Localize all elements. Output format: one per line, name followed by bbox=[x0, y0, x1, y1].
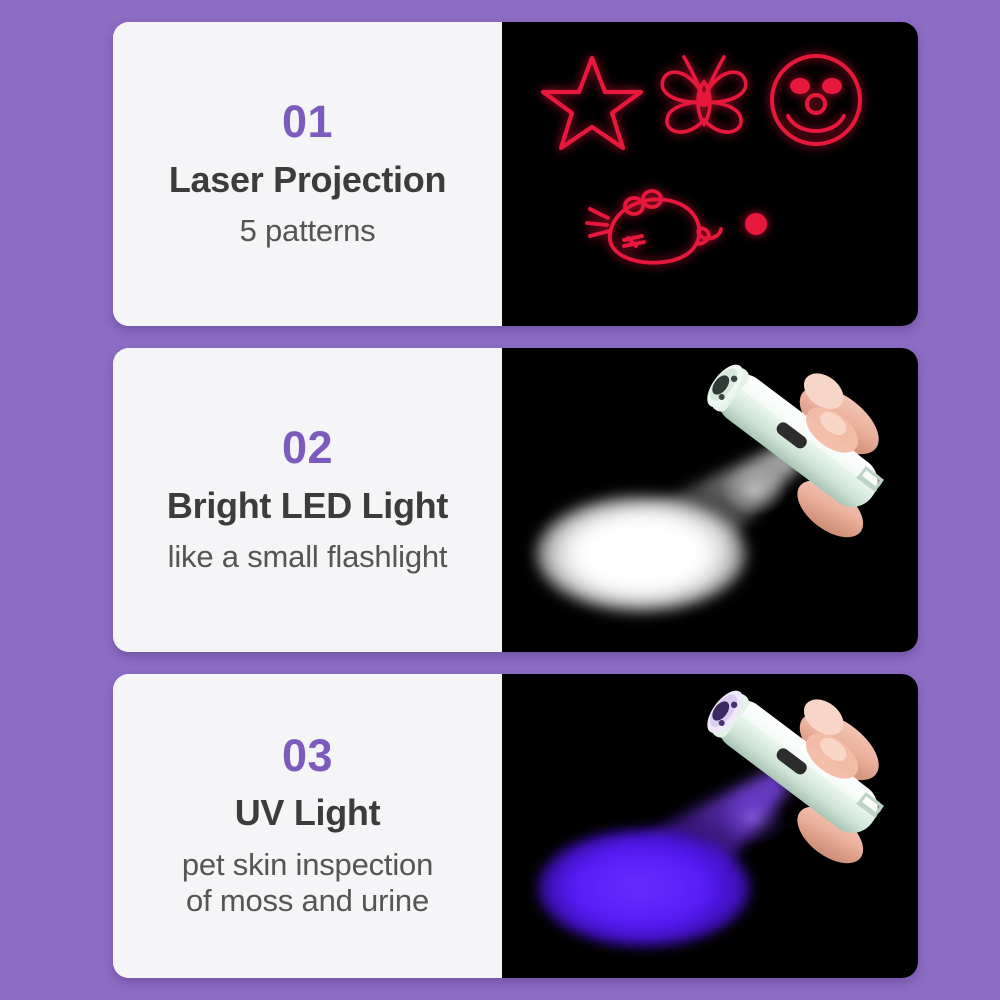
card-text-panel: 03 UV Light pet skin inspection of moss … bbox=[113, 674, 502, 978]
card-media-laser-patterns bbox=[502, 22, 918, 326]
laser-pattern-star bbox=[540, 50, 644, 159]
laser-pattern-dot bbox=[740, 208, 772, 245]
laser-pattern-butterfly bbox=[654, 48, 754, 157]
card-media-uv-beam bbox=[502, 674, 918, 978]
laser-pattern-stage bbox=[502, 22, 918, 326]
feature-number: 01 bbox=[282, 98, 333, 145]
laser-pattern-mouse bbox=[580, 182, 730, 279]
feature-description-line: like a small flashlight bbox=[168, 539, 448, 576]
feature-title: UV Light bbox=[235, 793, 381, 833]
feature-number: 03 bbox=[282, 732, 333, 779]
card-text-panel: 02 Bright LED Light like a small flashli… bbox=[113, 348, 502, 652]
feature-card-bright-led-light: 02 Bright LED Light like a small flashli… bbox=[113, 348, 918, 652]
laser-pattern-smiley-face bbox=[766, 48, 866, 157]
card-media-led-beam bbox=[502, 348, 918, 652]
feature-board: 01 Laser Projection 5 patterns bbox=[0, 0, 1000, 1000]
uv-photo-stage bbox=[502, 674, 918, 978]
feature-description-line: 5 patterns bbox=[240, 213, 376, 250]
feature-description: like a small flashlight bbox=[168, 539, 448, 576]
feature-description-line: of moss and urine bbox=[182, 883, 433, 920]
feature-card-uv-light: 03 UV Light pet skin inspection of moss … bbox=[113, 674, 918, 978]
feature-description: 5 patterns bbox=[240, 213, 376, 250]
feature-number: 02 bbox=[282, 424, 333, 471]
feature-title: Laser Projection bbox=[169, 160, 446, 200]
feature-description: pet skin inspection of moss and urine bbox=[182, 847, 433, 920]
pen-device-uv bbox=[668, 674, 918, 883]
feature-card-laser-projection: 01 Laser Projection 5 patterns bbox=[113, 22, 918, 326]
feature-title: Bright LED Light bbox=[167, 486, 448, 526]
card-text-panel: 01 Laser Projection 5 patterns bbox=[113, 22, 502, 326]
pen-device-led bbox=[668, 348, 918, 557]
led-photo-stage bbox=[502, 348, 918, 652]
feature-description-line: pet skin inspection bbox=[182, 847, 433, 884]
